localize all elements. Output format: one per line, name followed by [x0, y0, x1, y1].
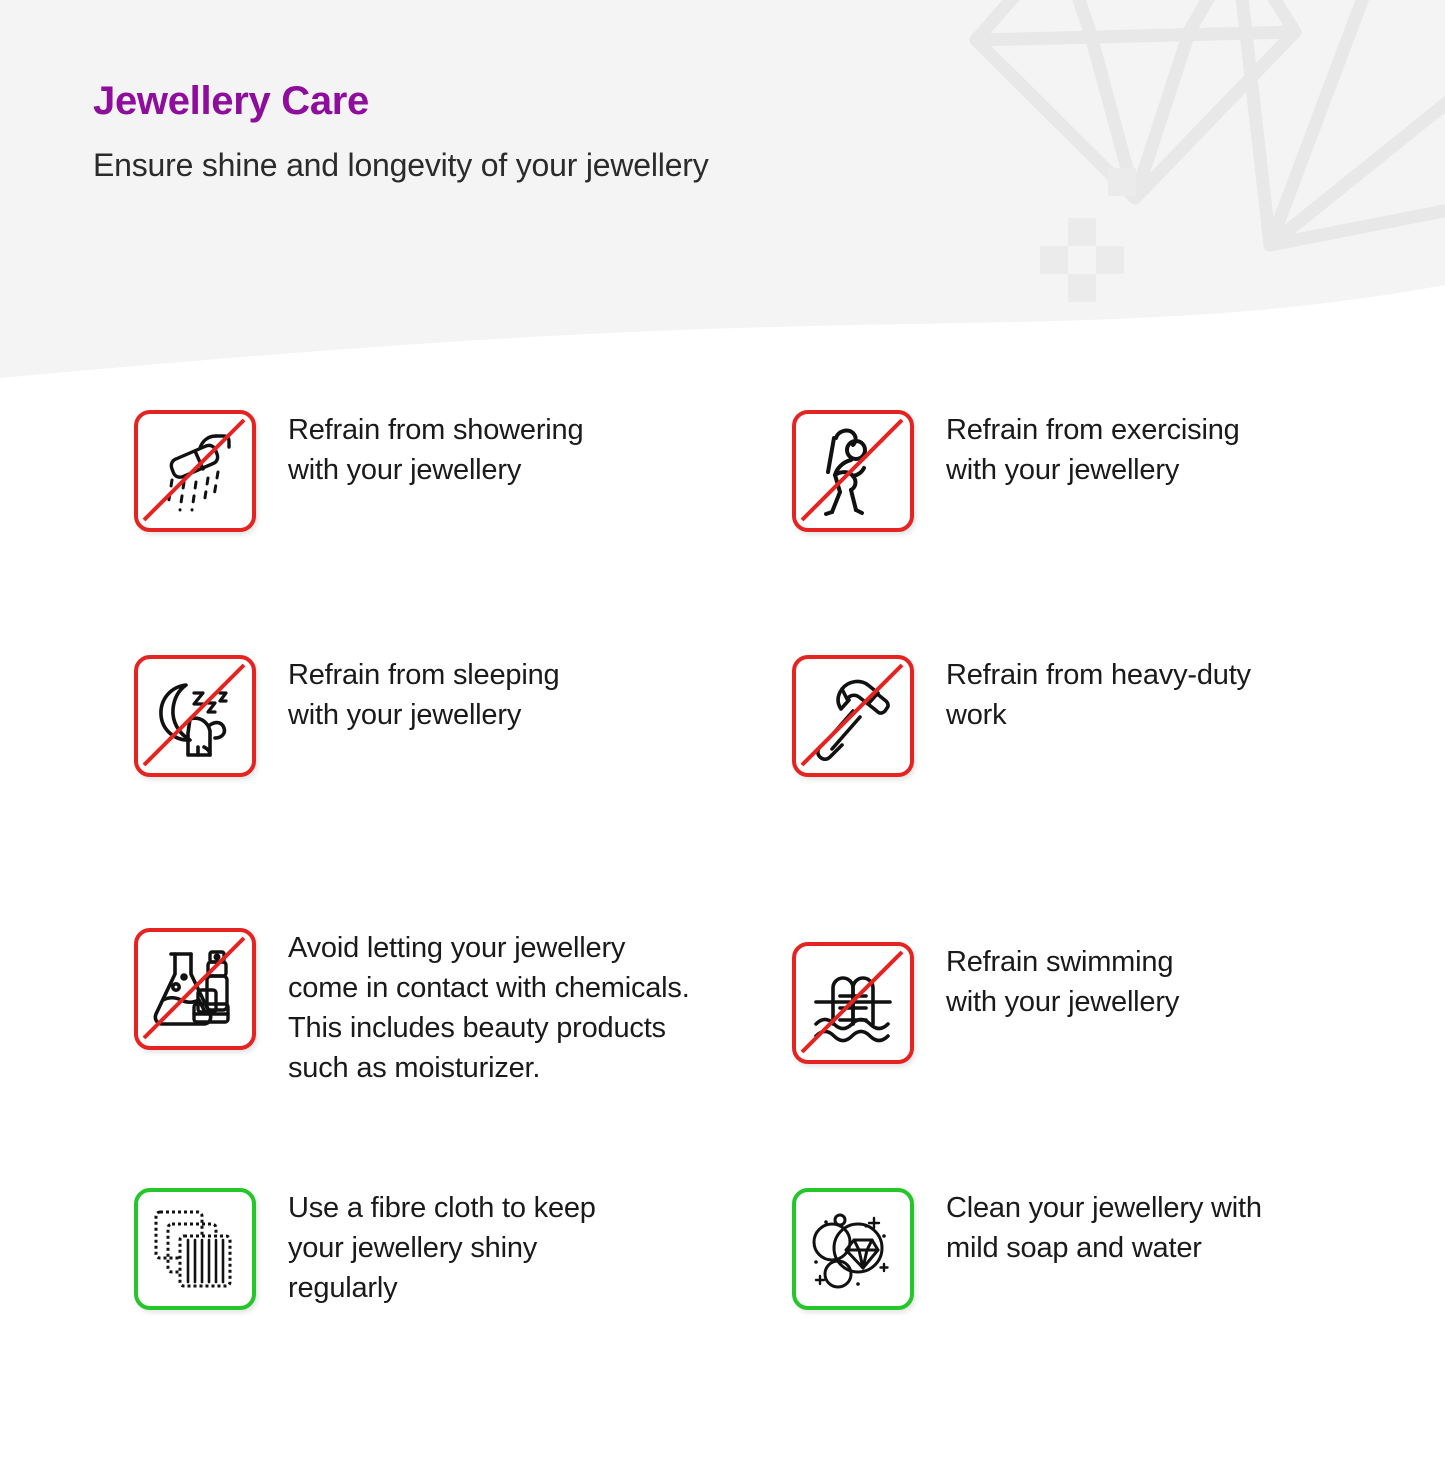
page-title: Jewellery Care [93, 78, 709, 124]
stacked-cloths-icon [134, 1188, 256, 1310]
swimming-pool-ladder-icon [792, 942, 914, 1064]
page-subtitle: Ensure shine and longevity of your jewel… [93, 146, 709, 184]
care-item-soap-and-water: Clean your jewellery with mild soap and … [792, 1188, 1262, 1310]
care-item-chemicals: Avoid letting your jewellery come in con… [134, 928, 690, 1088]
care-item-label: Refrain swimming with your jewellery [946, 942, 1179, 1022]
care-item-label: Clean your jewellery with mild soap and … [946, 1188, 1262, 1268]
flask-cosmetics-icon [134, 928, 256, 1050]
care-item-sleeping: Refrain from sleeping with your jeweller… [134, 655, 559, 777]
care-item-label: Refrain from heavy-duty work [946, 655, 1251, 735]
header-background-shape [0, 0, 1445, 390]
hammer-icon [792, 655, 914, 777]
care-item-label: Refrain from sleeping with your jeweller… [288, 655, 559, 735]
care-item-label: Use a fibre cloth to keep your jewellery… [288, 1188, 596, 1308]
care-item-fibre-cloth: Use a fibre cloth to keep your jewellery… [134, 1188, 596, 1310]
care-item-showering: Refrain from showering with your jewelle… [134, 410, 583, 532]
care-item-heavy-duty-work: Refrain from heavy-duty work [792, 655, 1251, 777]
moon-sleeping-cat-icon [134, 655, 256, 777]
care-item-label: Avoid letting your jewellery come in con… [288, 928, 690, 1088]
care-item-exercising: Refrain from exercising with your jewell… [792, 410, 1240, 532]
page-header: Jewellery Care Ensure shine and longevit… [0, 0, 1445, 390]
soap-bubbles-diamond-icon [792, 1188, 914, 1310]
care-item-label: Refrain from showering with your jewelle… [288, 410, 583, 490]
stretching-person-icon [792, 410, 914, 532]
care-item-swimming: Refrain swimming with your jewellery [792, 942, 1179, 1064]
shower-head-icon [134, 410, 256, 532]
header-text-block: Jewellery Care Ensure shine and longevit… [93, 78, 709, 184]
care-item-label: Refrain from exercising with your jewell… [946, 410, 1240, 490]
